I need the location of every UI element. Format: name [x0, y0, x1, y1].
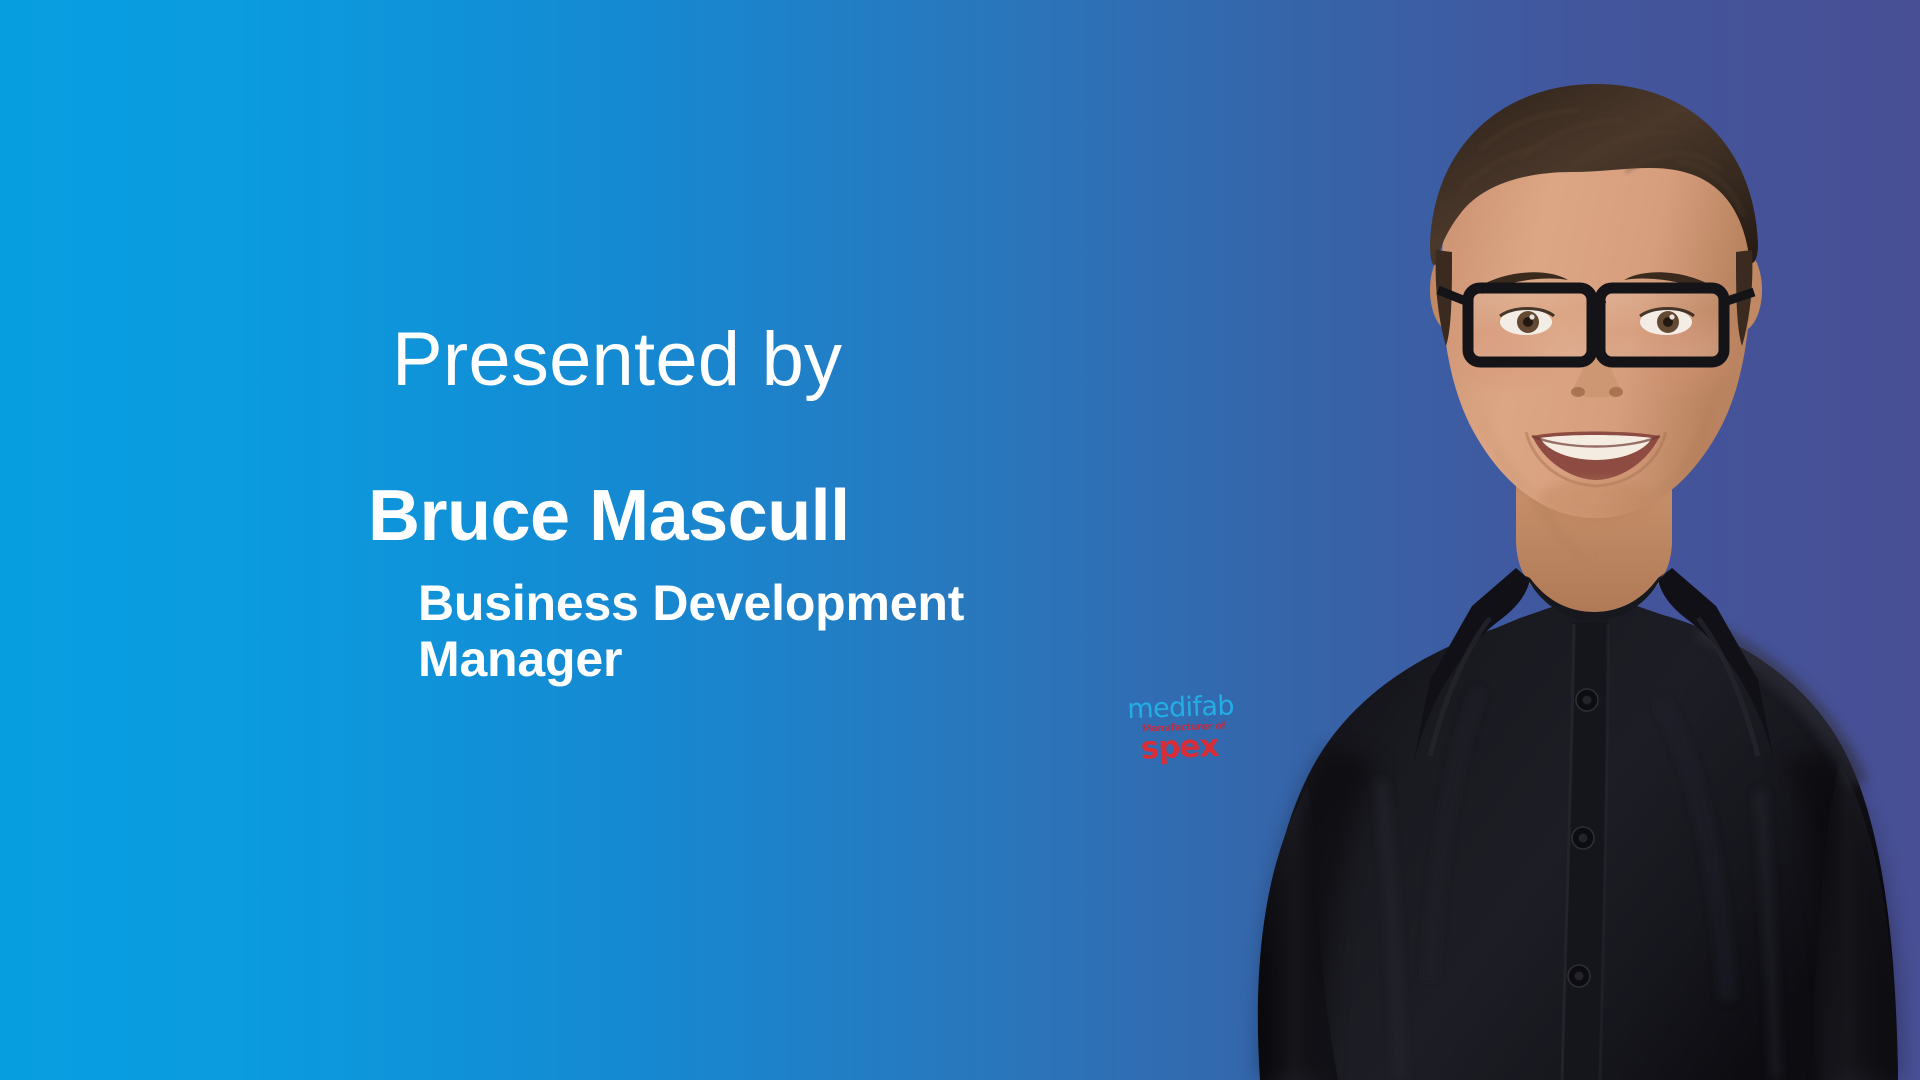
- presenter-role-line-2: Manager: [418, 631, 622, 687]
- glasses-icon: [1438, 288, 1754, 362]
- presenter-role: Business Development Manager: [418, 575, 978, 687]
- presenter-role-line-1: Business Development: [418, 575, 964, 631]
- presented-by-label: Presented by: [392, 322, 842, 398]
- presenter-name: Bruce Mascull: [368, 480, 850, 552]
- title-text-block: Presented by Bruce Mascull Business Deve…: [0, 0, 1100, 1080]
- presenter-title-slide: medifab Manufacturer of spex Presented b…: [0, 0, 1920, 1080]
- presenter-portrait: [960, 0, 1920, 1080]
